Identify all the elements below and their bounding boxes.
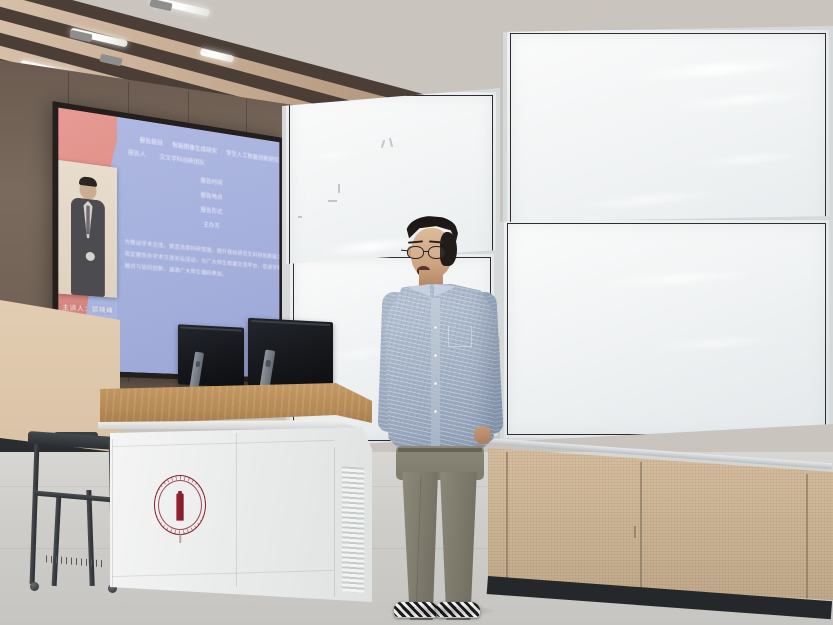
caster-wheel bbox=[30, 582, 39, 591]
speaker-portrait-photo bbox=[58, 159, 117, 297]
cart-leg bbox=[52, 494, 62, 586]
slide-detail-line: 主办方 bbox=[203, 220, 220, 230]
slide-header-extra: 学生人工智能创新研究 bbox=[226, 148, 279, 164]
university-seal-icon bbox=[154, 475, 206, 535]
trouser-leg-right bbox=[440, 472, 480, 620]
slide-sub-label: 报告人 bbox=[128, 148, 146, 159]
slide-header-value: 智能图像生成研究 bbox=[172, 140, 217, 155]
slide-detail-line: 报告形式 bbox=[201, 205, 223, 216]
slide-detail-line: 报告时间 bbox=[201, 176, 223, 187]
shirt-pocket bbox=[448, 326, 472, 347]
lecture-hall-photo: 主讲人：郭晓峰 报告题目 智能图像生成研究 学生人工智能创新研究 报告人 交叉学… bbox=[0, 0, 833, 625]
glasses-icon bbox=[406, 246, 451, 260]
slide-sub-value: 交叉学科创新团队 bbox=[159, 152, 204, 167]
cart-leg bbox=[86, 490, 94, 586]
slide-header-label: 报告题目 bbox=[139, 135, 162, 147]
monitor-left[interactable] bbox=[178, 324, 244, 387]
belt bbox=[398, 448, 482, 452]
slide-body-block: 为推动学术交流，营造浓厚科研氛围，提升我校研究生科研创新能力， 现定期举办学术交… bbox=[121, 233, 279, 288]
slide-detail-line: 报告地点 bbox=[201, 190, 223, 201]
podium-body bbox=[110, 427, 372, 602]
speaker-person bbox=[378, 210, 503, 622]
person-shadow bbox=[386, 604, 496, 618]
whiteboard-panel bbox=[500, 216, 833, 442]
cart-shelf bbox=[34, 491, 114, 503]
shirt-placket bbox=[431, 298, 440, 448]
rolling-cart[interactable] bbox=[24, 432, 120, 600]
ventilation-grille bbox=[342, 466, 364, 593]
cart-top-surface bbox=[28, 431, 116, 450]
cart-leg bbox=[30, 444, 40, 584]
